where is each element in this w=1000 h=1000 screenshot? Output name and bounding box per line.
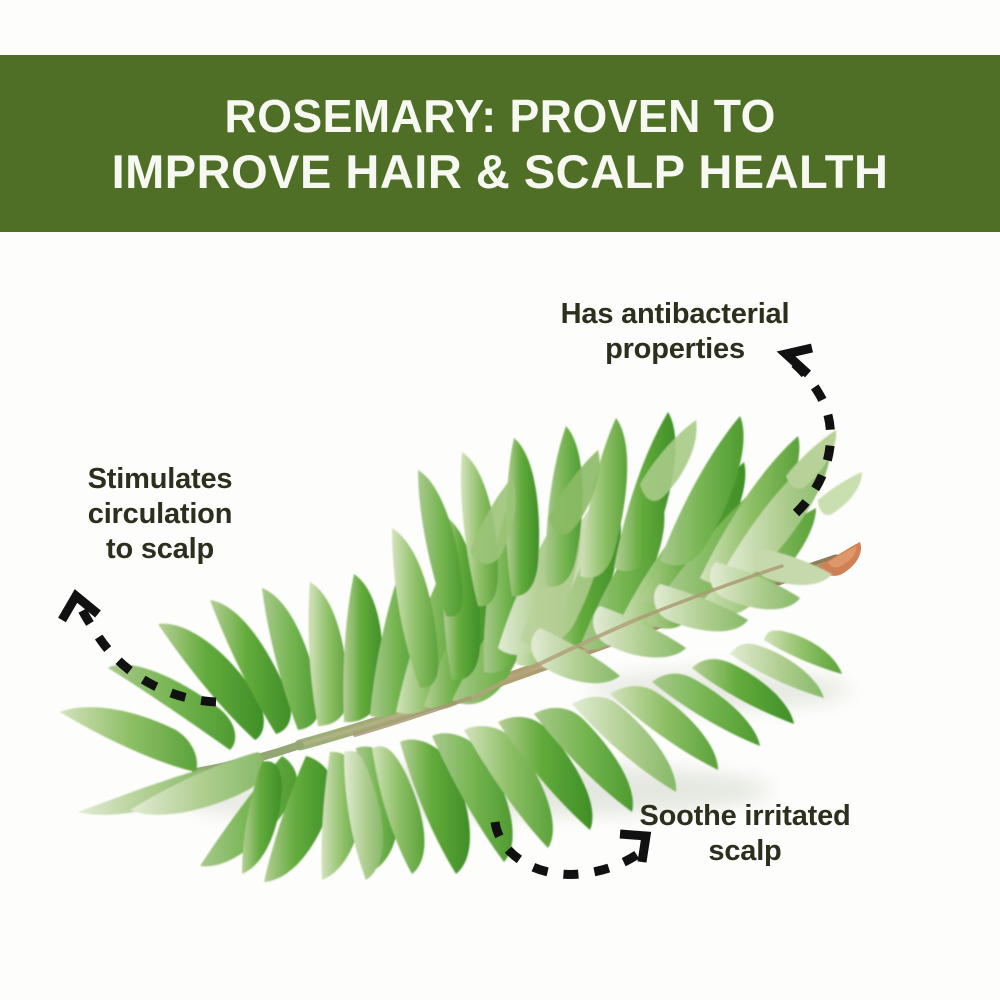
callout-soothe: Soothe irritated scalp [639,799,850,869]
callout-antibacterial-line-2: properties [561,332,790,367]
infographic-canvas: ROSEMARY: PROVEN TO IMPROVE HAIR & SCALP… [0,0,1000,1000]
banner-title-line-2: IMPROVE HAIR & SCALP HEALTH [112,144,889,200]
callout-soothe-line-2: scalp [639,834,850,869]
callout-soothe-line-1: Soothe irritated [639,799,850,834]
callout-antibacterial-line-1: Has antibacterial [561,297,790,332]
callout-circulation: Stimulates circulation to scalp [88,462,233,567]
callout-circulation-line-3: to scalp [88,532,233,567]
banner-title-line-1: ROSEMARY: PROVEN TO [224,88,775,144]
callout-antibacterial: Has antibacterial properties [561,297,790,367]
callout-circulation-line-1: Stimulates [88,462,233,497]
callout-circulation-line-2: circulation [88,497,233,532]
header-banner: ROSEMARY: PROVEN TO IMPROVE HAIR & SCALP… [0,55,1000,232]
